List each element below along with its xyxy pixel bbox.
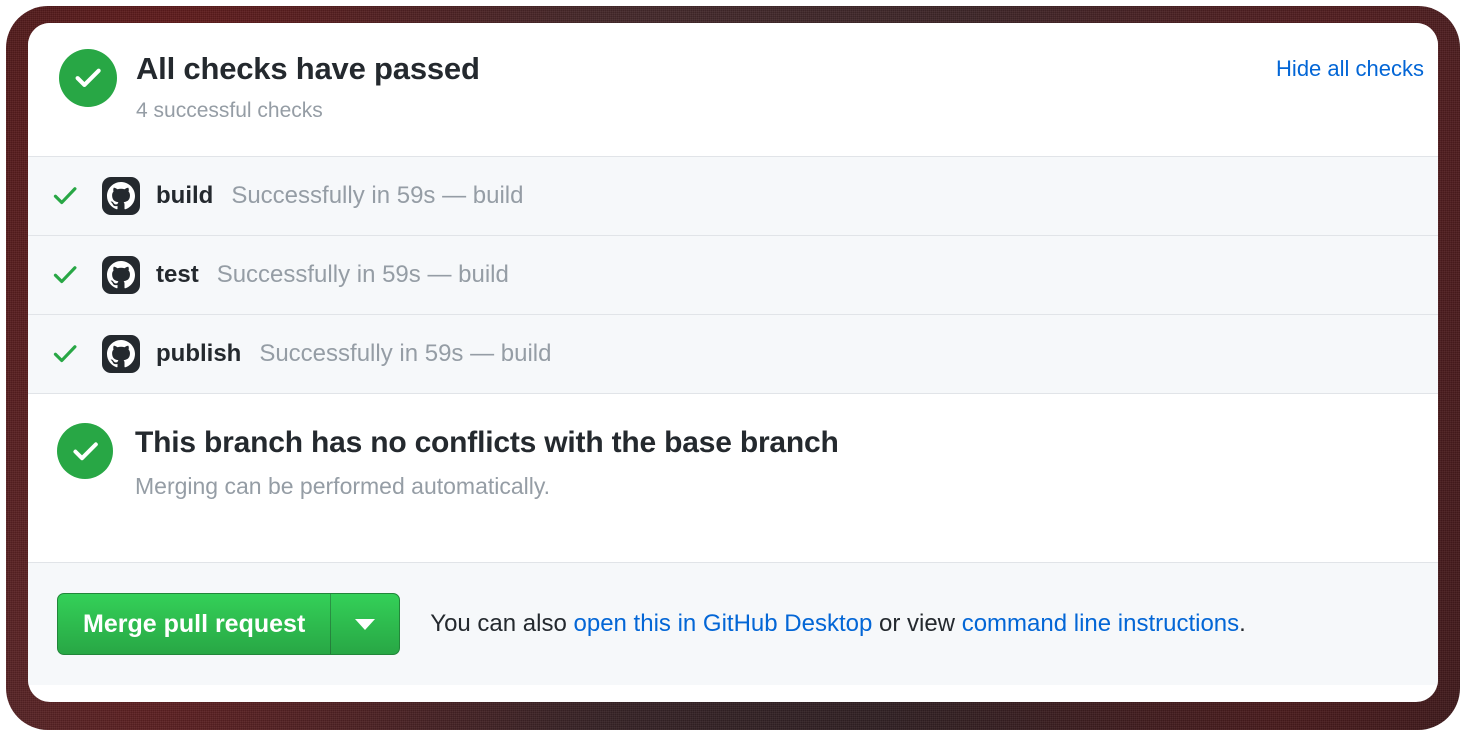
conflict-title: This branch has no conflicts with the ba…	[135, 426, 839, 460]
help-text-suffix: .	[1239, 610, 1246, 637]
hide-all-checks-link[interactable]: Hide all checks	[1276, 56, 1424, 82]
table-row[interactable]: build Successfully in 59s — build	[28, 157, 1438, 236]
checks-subtitle: 4 successful checks	[136, 99, 323, 123]
merge-pull-request-button-group[interactable]: Merge pull request	[57, 593, 400, 655]
github-octocat-icon	[102, 335, 140, 373]
merge-options-dropdown-button[interactable]	[331, 594, 399, 654]
merge-status-card: All checks have passed 4 successful chec…	[28, 23, 1438, 702]
command-line-instructions-link[interactable]: command line instructions	[962, 610, 1239, 637]
merge-conflict-status: This branch has no conflicts with the ba…	[28, 394, 1438, 563]
chevron-down-icon	[355, 619, 375, 630]
check-circle-icon	[57, 423, 113, 479]
check-icon	[28, 340, 102, 368]
checks-list: build Successfully in 59s — build test S…	[28, 157, 1438, 394]
check-name: publish	[156, 340, 241, 368]
merge-footer: Merge pull request You can also open thi…	[28, 563, 1438, 685]
page-title: All checks have passed	[136, 51, 480, 87]
github-octocat-icon	[102, 177, 140, 215]
check-circle-icon	[59, 49, 117, 107]
check-description: Successfully in 59s — build	[217, 261, 509, 289]
github-octocat-icon	[102, 256, 140, 294]
table-row[interactable]: test Successfully in 59s — build	[28, 236, 1438, 315]
help-text-middle: or view	[872, 610, 961, 637]
check-name: build	[156, 182, 213, 210]
check-icon	[28, 261, 102, 289]
open-in-github-desktop-link[interactable]: open this in GitHub Desktop	[574, 610, 873, 637]
merge-pull-request-button[interactable]: Merge pull request	[58, 594, 330, 654]
conflict-subtitle: Merging can be performed automatically.	[135, 473, 550, 500]
checks-header: All checks have passed 4 successful chec…	[28, 23, 1438, 157]
check-name: test	[156, 261, 199, 289]
check-icon	[28, 182, 102, 210]
check-description: Successfully in 59s — build	[259, 340, 551, 368]
table-row[interactable]: publish Successfully in 59s — build	[28, 315, 1438, 394]
merge-help-text: You can also open this in GitHub Desktop…	[430, 610, 1246, 638]
check-description: Successfully in 59s — build	[231, 182, 523, 210]
help-text-prefix: You can also	[430, 610, 573, 637]
